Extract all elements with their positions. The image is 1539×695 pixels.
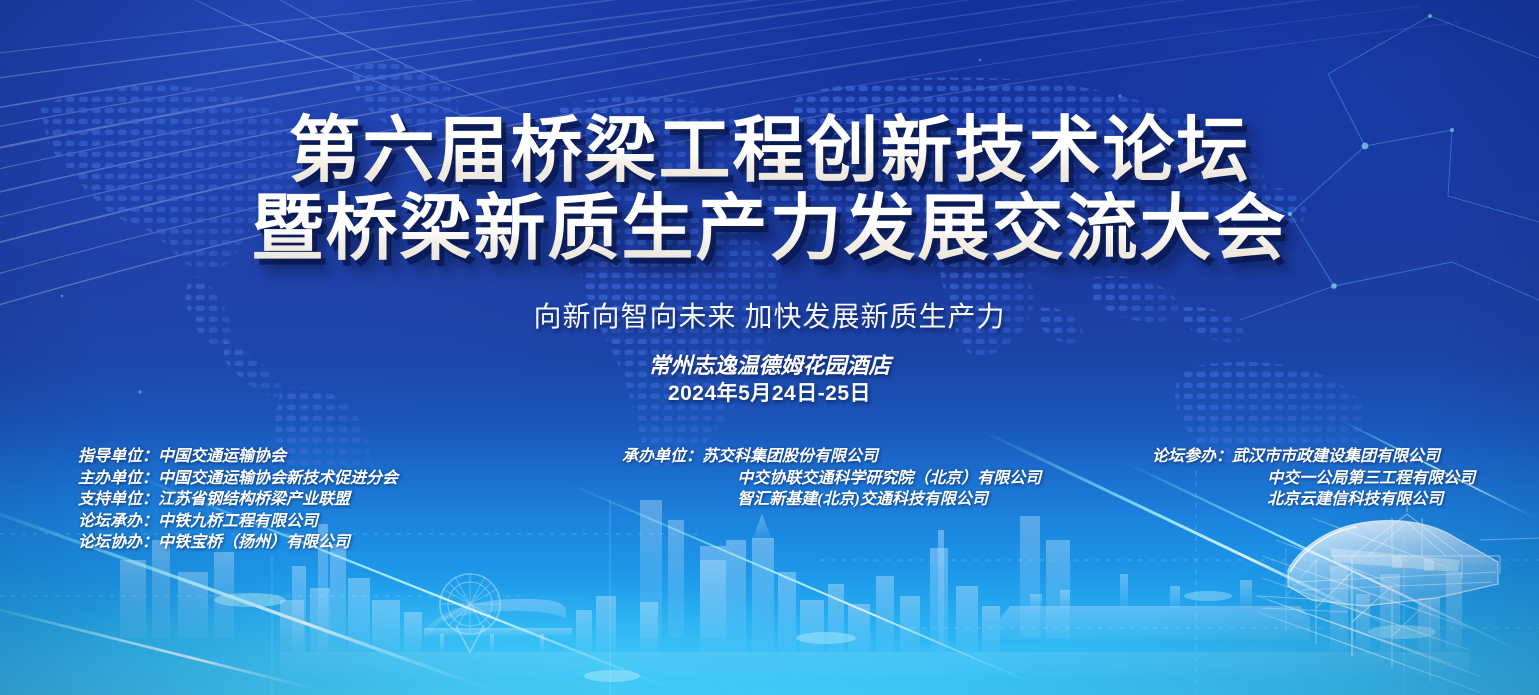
title-line-2: 暨桥梁新质生产力发展交流大会: [0, 190, 1539, 268]
organizer-value: 智汇新基建(北京)交通科技有限公司: [737, 489, 988, 511]
organizer-label: 承办单位：: [622, 446, 702, 468]
organizer-line: 论坛协办：中铁宝桥（扬州）有限公司: [78, 532, 398, 554]
organizer-value: 江苏省钢结构桥梁产业联盟: [158, 489, 350, 511]
organizer-value: 中国交通运输协会新技术促进分会: [158, 468, 398, 490]
organizer-label: 主办单位：: [78, 468, 158, 490]
venue-name: 常州志逸温德姆花园酒店: [0, 352, 1539, 380]
organizer-value: 中铁九桥工程有限公司: [158, 511, 318, 533]
organizer-value: 北京云建信科技有限公司: [1267, 489, 1443, 511]
organizer-line: 中交一公局第三工程有限公司: [1152, 468, 1475, 490]
organizer-line: 论坛承办：中铁九桥工程有限公司: [78, 511, 398, 533]
organizer-line: 论坛参办：武汉市市政建设集团有限公司: [1152, 446, 1475, 468]
organizer-line: 智汇新基建(北京)交通科技有限公司: [622, 489, 1041, 511]
venue-block: 常州志逸温德姆花园酒店 2024年5月24日-25日: [0, 352, 1539, 408]
organizer-line: 主办单位：中国交通运输协会新技术促进分会: [78, 468, 398, 490]
organizer-value: 中交一公局第三工程有限公司: [1267, 468, 1475, 490]
organizers-right-column: 论坛参办：武汉市市政建设集团有限公司 中交一公局第三工程有限公司 北京云建信科技…: [1152, 446, 1475, 511]
slogan-text: 向新向智向未来 加快发展新质生产力: [0, 295, 1539, 335]
organizer-label: 论坛协办：: [78, 532, 158, 554]
organizer-label: 支持单位：: [78, 489, 158, 511]
page-title: 第六届桥梁工程创新技术论坛 暨桥梁新质生产力发展交流大会: [0, 112, 1539, 268]
organizer-value: 苏交科集团股份有限公司: [702, 446, 878, 468]
organizer-value: 中交协联交通科学研究院（北京）有限公司: [737, 468, 1041, 490]
organizer-line: 中交协联交通科学研究院（北京）有限公司: [622, 468, 1041, 490]
organizer-line: 支持单位：江苏省钢结构桥梁产业联盟: [78, 489, 398, 511]
organizers-center-column: 承办单位：苏交科集团股份有限公司 中交协联交通科学研究院（北京）有限公司 智汇新…: [622, 446, 1041, 511]
event-dates: 2024年5月24日-25日: [0, 380, 1539, 408]
organizers-left-column: 指导单位：中国交通运输协会 主办单位：中国交通运输协会新技术促进分会 支持单位：…: [78, 446, 398, 554]
organizer-value: 中国交通运输协会: [158, 446, 286, 468]
organizer-line: 承办单位：苏交科集团股份有限公司: [622, 446, 1041, 468]
organizer-line: 北京云建信科技有限公司: [1152, 489, 1475, 511]
organizer-label: 论坛承办：: [78, 511, 158, 533]
organizer-value: 武汉市市政建设集团有限公司: [1232, 446, 1440, 468]
conference-banner: 第六届桥梁工程创新技术论坛 暨桥梁新质生产力发展交流大会 向新向智向未来 加快发…: [0, 0, 1539, 695]
organizer-label: 指导单位：: [78, 446, 158, 468]
organizer-value: 中铁宝桥（扬州）有限公司: [158, 532, 350, 554]
organizer-label: 论坛参办：: [1152, 446, 1232, 468]
title-line-1: 第六届桥梁工程创新技术论坛: [0, 112, 1539, 190]
organizer-line: 指导单位：中国交通运输协会: [78, 446, 398, 468]
